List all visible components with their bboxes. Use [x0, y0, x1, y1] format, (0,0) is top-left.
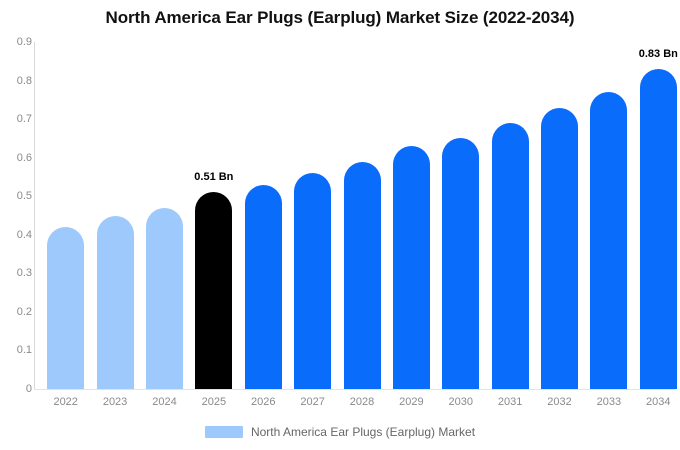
y-axis-tick-label: 0.4 [4, 229, 32, 241]
x-axis-tick-label: 2026 [251, 396, 275, 408]
x-axis-tick-label: 2033 [597, 396, 621, 408]
bar-2027[interactable] [294, 173, 331, 389]
bar-2026[interactable] [245, 185, 282, 389]
x-axis-tick-label: 2032 [547, 396, 571, 408]
x-axis-tick-label: 2022 [53, 396, 77, 408]
legend-label: North America Ear Plugs (Earplug) Market [251, 425, 475, 439]
bar-2023[interactable] [97, 216, 134, 390]
y-axis-tick-label: 0.7 [4, 113, 32, 125]
bar-2032[interactable] [541, 108, 578, 389]
bar-2030[interactable] [442, 138, 479, 389]
bar-2033[interactable] [590, 92, 627, 389]
x-axis-tick-label: 2034 [646, 396, 670, 408]
x-axis-tick-label: 2023 [103, 396, 127, 408]
y-axis-tick-label: 0.9 [4, 36, 32, 48]
y-axis-tick-label: 0.1 [4, 344, 32, 356]
y-axis-tick-label: 0.6 [4, 152, 32, 164]
x-axis-line [34, 389, 676, 390]
bar-value-label-2025: 0.51 Bn [194, 171, 233, 183]
x-axis-tick-label: 2027 [300, 396, 324, 408]
x-axis-tick-label: 2030 [449, 396, 473, 408]
bar-2028[interactable] [344, 162, 381, 389]
x-axis-tick-label: 2028 [350, 396, 374, 408]
chart-legend: North America Ear Plugs (Earplug) Market [0, 425, 680, 439]
bar-2031[interactable] [492, 123, 529, 389]
y-axis-tick-label: 0.8 [4, 75, 32, 87]
y-axis-tick-label: 0.5 [4, 190, 32, 202]
y-axis-tick-label: 0.2 [4, 306, 32, 318]
x-axis-tick-label: 2029 [399, 396, 423, 408]
chart-title: North America Ear Plugs (Earplug) Market… [0, 8, 680, 28]
x-axis-tick-label: 2025 [202, 396, 226, 408]
bar-2025[interactable] [195, 192, 232, 389]
y-axis-tick-label: 0.3 [4, 267, 32, 279]
y-axis-tick-labels: 0.90.80.70.60.50.40.30.20.10 [0, 0, 32, 450]
legend-swatch-icon [205, 426, 243, 438]
bar-2029[interactable] [393, 146, 430, 389]
bar-2034[interactable] [640, 69, 677, 389]
bar-chart: North America Ear Plugs (Earplug) Market… [0, 0, 680, 450]
x-axis-tick-label: 2024 [152, 396, 176, 408]
y-axis-tick-label: 0 [4, 383, 32, 395]
plot-area [34, 42, 676, 389]
bar-2024[interactable] [146, 208, 183, 389]
x-axis-tick-label: 2031 [498, 396, 522, 408]
bar-value-label-2034: 0.83 Bn [639, 48, 678, 60]
bar-2022[interactable] [47, 227, 84, 389]
legend-item[interactable]: North America Ear Plugs (Earplug) Market [205, 425, 475, 439]
